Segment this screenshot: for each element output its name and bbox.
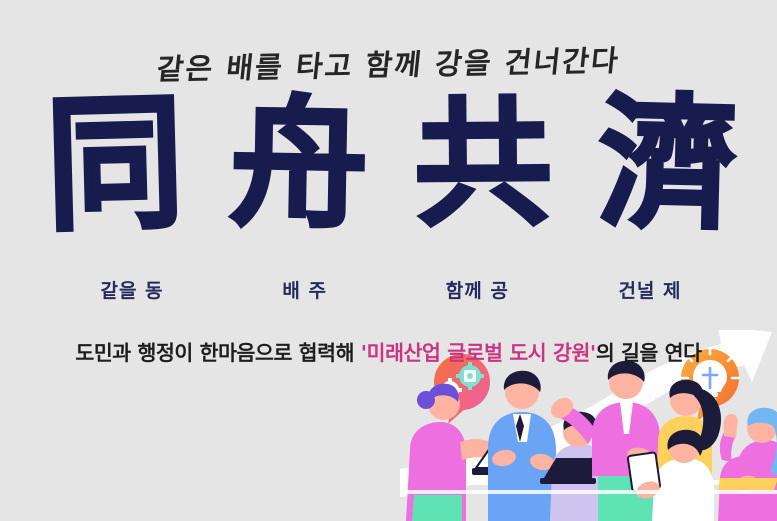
reading-label-1: 같을 동	[46, 276, 218, 303]
hanja-char-1: 同	[44, 90, 186, 240]
hanja-char-4: 濟	[596, 92, 737, 239]
readings-row: 같을 동 배 주 함께 공 건널 제	[46, 276, 736, 303]
poster-canvas: 같은 배를 타고 함께 강을 건너간다 同 舟 共 濟 같을 동 배 주 함께 …	[0, 0, 777, 521]
tagline-after: 의 길을 연다	[596, 341, 702, 365]
reading-label-4: 건널 제	[564, 276, 736, 303]
hanja-char-2: 舟	[229, 93, 369, 236]
hanja-row: 同 舟 共 濟	[46, 96, 736, 234]
reading-label-3: 함께 공	[391, 276, 563, 303]
tagline-highlight: '미래산업 글로벌 도시 강원'	[361, 341, 596, 365]
hanja-char-3: 共	[413, 95, 552, 234]
tagline: 도민과 행정이 한마음으로 협력해 '미래산업 글로벌 도시 강원'의 길을 연…	[0, 336, 777, 366]
reading-label-2: 배 주	[219, 276, 391, 303]
tagline-before: 도민과 행정이 한마음으로 협력해	[75, 341, 360, 365]
